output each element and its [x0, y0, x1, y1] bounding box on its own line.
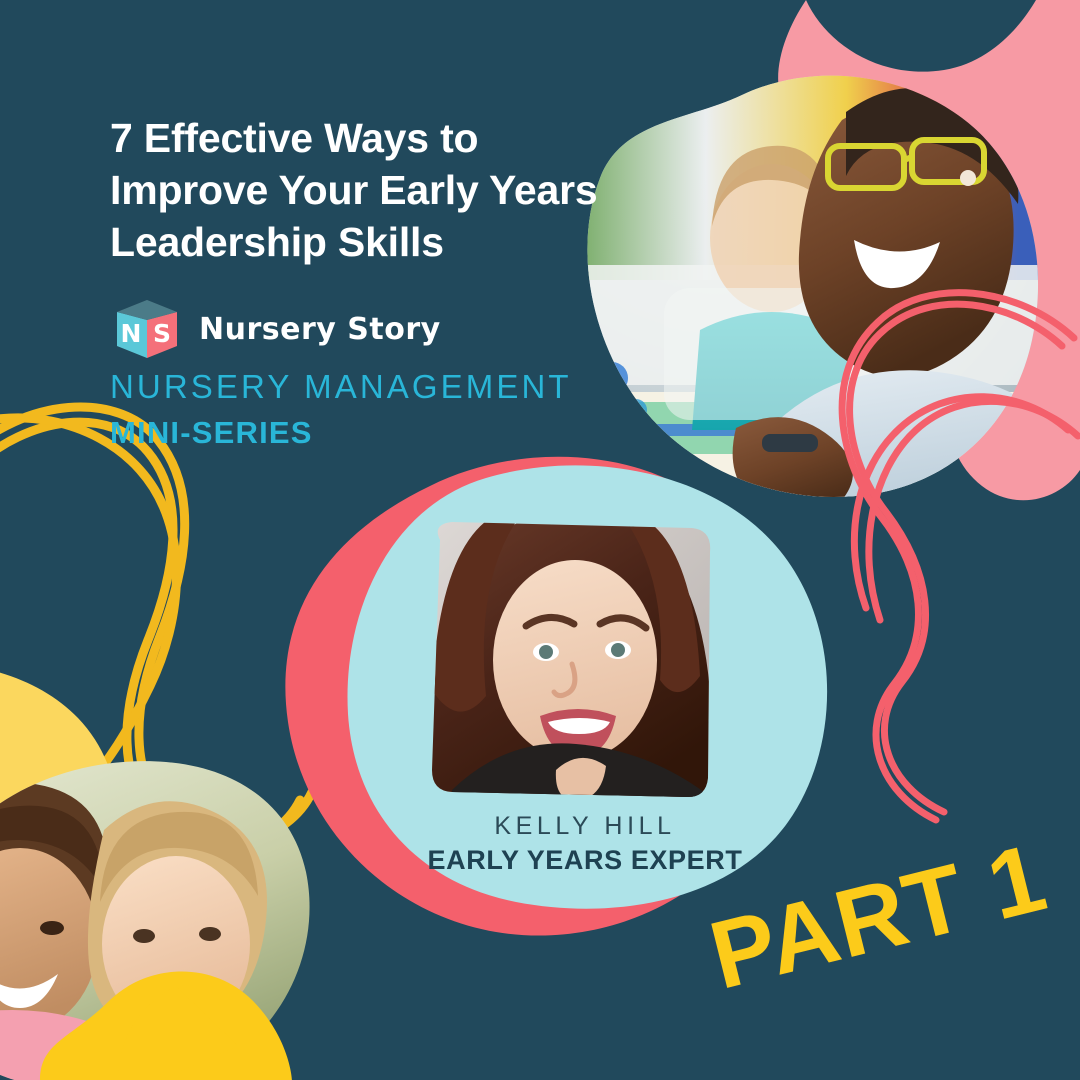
series-subtitle: MINI-SERIES — [110, 415, 313, 451]
kelly-hill-portrait-photo — [425, 506, 720, 810]
logo-letter-s: S — [153, 319, 171, 348]
nursery-story-cube-icon: N S — [109, 298, 185, 360]
series-title: NURSERY MANAGEMENT — [110, 368, 572, 406]
brand-wordmark: Nursery Story — [199, 312, 441, 347]
headline-line-2: Improve Your Early Years — [110, 164, 610, 216]
headline-line-3: Leadership Skills — [110, 216, 610, 268]
page-title: 7 Effective Ways to Improve Your Early Y… — [110, 112, 610, 268]
headline-line-1: 7 Effective Ways to — [110, 112, 610, 164]
brand-logo[interactable]: N S Nursery Story — [109, 298, 441, 360]
social-post-canvas: 7 Effective Ways to Improve Your Early Y… — [0, 0, 1080, 1080]
logo-letter-n: N — [121, 319, 142, 348]
